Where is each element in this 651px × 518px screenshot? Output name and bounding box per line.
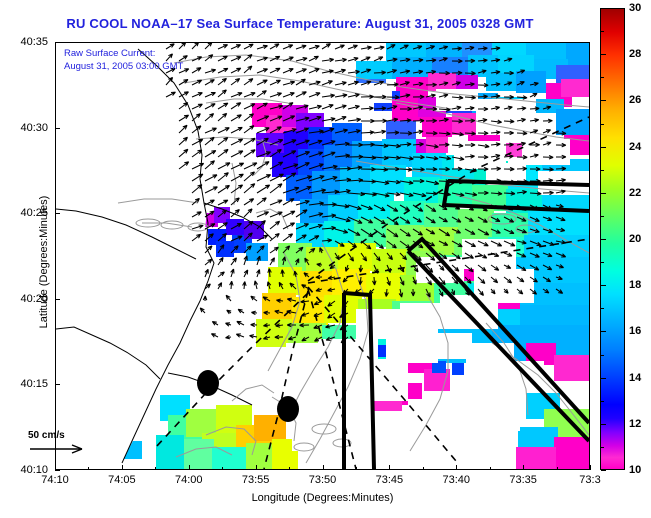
x-tick-mark bbox=[189, 465, 190, 470]
x-tick-mark bbox=[122, 465, 123, 470]
colorbar-tick-mark bbox=[601, 424, 606, 425]
velocity-scale-arrow-icon bbox=[28, 441, 90, 457]
colorbar-tick-label: 20 bbox=[629, 233, 641, 245]
colorbar-tick-label: 18 bbox=[629, 279, 641, 291]
x-tick-minor bbox=[356, 467, 357, 470]
y-axis-label: Latitude (Degrees:Minutes) bbox=[38, 162, 50, 362]
y-tick-label: 40:15 bbox=[2, 378, 48, 390]
page-title: RU COOL NOAA–17 Sea Surface Temperature:… bbox=[0, 16, 600, 31]
y-tick-label: 40:10 bbox=[2, 464, 48, 476]
sst-map-plot[interactable]: Raw Surface Current: August 31, 2005 03:… bbox=[55, 42, 590, 470]
colorbar-tick-mark bbox=[601, 100, 606, 101]
colorbar-tick-label: 22 bbox=[629, 187, 641, 199]
x-tick-mark bbox=[389, 465, 390, 470]
x-tick-label: 73:40 bbox=[442, 474, 470, 486]
colorbar-tick-label: 14 bbox=[629, 372, 641, 384]
colorbar-tick-mark bbox=[601, 470, 606, 471]
plot-clip: Raw Surface Current: August 31, 2005 03:… bbox=[56, 43, 589, 469]
colorbar-tick-mark bbox=[601, 193, 606, 194]
x-tick-minor bbox=[155, 467, 156, 470]
x-tick-minor bbox=[289, 467, 290, 470]
x-tick-mark bbox=[523, 465, 524, 470]
colorbar-tick-minor bbox=[601, 77, 604, 78]
colorbar-tick-minor bbox=[601, 355, 604, 356]
colorbar-tick-minor bbox=[601, 31, 604, 32]
x-tick-mark bbox=[323, 465, 324, 470]
x-tick-minor bbox=[557, 467, 558, 470]
y-tick-mark bbox=[55, 42, 60, 43]
x-tick-label: 73:55 bbox=[242, 474, 270, 486]
colorbar-tick-minor bbox=[601, 262, 604, 263]
y-tick-mark bbox=[55, 299, 60, 300]
x-tick-minor bbox=[88, 467, 89, 470]
x-tick-minor bbox=[423, 467, 424, 470]
colorbar-tick-label: 30 bbox=[629, 2, 641, 14]
y-tick-mark bbox=[55, 384, 60, 385]
annotation-line-1: Raw Surface Current: bbox=[64, 47, 183, 60]
velocity-scale-label: 50 cm/s bbox=[28, 430, 90, 441]
x-tick-label: 73:45 bbox=[376, 474, 404, 486]
x-tick-mark bbox=[456, 465, 457, 470]
colorbar-tick-mark bbox=[601, 378, 606, 379]
colorbar-tick-minor bbox=[601, 216, 604, 217]
x-axis-label: Longitude (Degrees:Minutes) bbox=[55, 492, 590, 504]
x-tick-minor bbox=[490, 467, 491, 470]
colorbar-tick-minor bbox=[601, 124, 604, 125]
colorbar-tick-minor bbox=[601, 401, 604, 402]
x-tick-label: 73:50 bbox=[309, 474, 337, 486]
colorbar-tick-label: 26 bbox=[629, 94, 641, 106]
x-tick-label: 73:35 bbox=[509, 474, 537, 486]
y-tick-mark bbox=[55, 470, 60, 471]
colorbar-tick-minor bbox=[601, 447, 604, 448]
colorbar-tick-mark bbox=[601, 54, 606, 55]
colorbar-tick-label: 24 bbox=[629, 141, 641, 153]
colorbar-tick-label: 28 bbox=[629, 48, 641, 60]
annotation-line-2: August 31, 2005 03:00 GMT bbox=[64, 60, 183, 73]
colorbar-tick-label: 12 bbox=[629, 418, 641, 430]
colorbar-tick-mark bbox=[601, 8, 606, 9]
surface-current-annotation: Raw Surface Current: August 31, 2005 03:… bbox=[64, 47, 183, 73]
velocity-scale-legend: 50 cm/s bbox=[28, 430, 90, 457]
colorbar-tick-minor bbox=[601, 308, 604, 309]
y-tick-mark bbox=[55, 128, 60, 129]
colorbar-tick-mark bbox=[601, 239, 606, 240]
colorbar-tick-minor bbox=[601, 170, 604, 171]
colorbar-tick-label: 16 bbox=[629, 325, 641, 337]
colorbar-tick-label: 10 bbox=[629, 464, 641, 476]
x-tick-label: 74:00 bbox=[175, 474, 203, 486]
y-tick-label: 40:30 bbox=[2, 122, 48, 134]
x-tick-mark bbox=[590, 465, 591, 470]
colorbar-tick-mark bbox=[601, 147, 606, 148]
x-tick-mark bbox=[256, 465, 257, 470]
y-tick-label: 40:35 bbox=[2, 36, 48, 48]
colorbar-tick-mark bbox=[601, 285, 606, 286]
sst-field-svg bbox=[56, 43, 589, 469]
x-tick-minor bbox=[222, 467, 223, 470]
x-tick-label: 74:05 bbox=[108, 474, 136, 486]
colorbar-tick-mark bbox=[601, 331, 606, 332]
x-tick-label: 73:3 bbox=[579, 474, 600, 486]
y-tick-mark bbox=[55, 213, 60, 214]
